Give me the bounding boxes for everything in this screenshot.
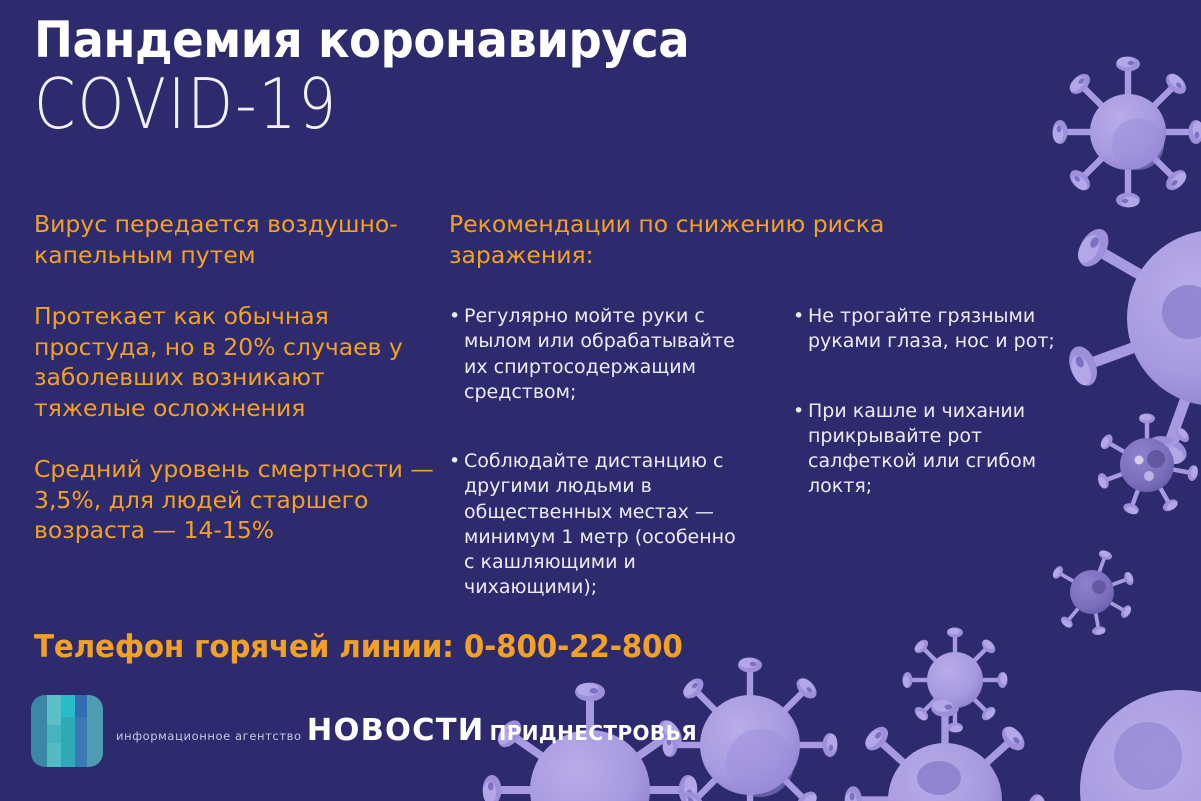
facts-column: Вирус передается воздушно-капельным путе… bbox=[34, 209, 434, 546]
logo-text-block: информационное агентство НОВОСТИ ПРИДНЕС… bbox=[116, 715, 697, 746]
recommendations-heading: Рекомендации по снижению риска заражения… bbox=[449, 209, 949, 270]
list-item-label: Соблюдайте дистанцию с другими людьми в … bbox=[464, 450, 736, 598]
logo-region: ПРИДНЕСТРОВЬЯ bbox=[490, 721, 697, 745]
bullet-icon: • bbox=[793, 304, 804, 329]
list-item: • Не трогайте грязными руками глаза, нос… bbox=[793, 304, 1061, 355]
recommendations-column-one: • Регулярно мойте руки с мылом или обраб… bbox=[449, 304, 749, 601]
poster-header: Пандемия коронавируса COVID-19 bbox=[34, 14, 739, 132]
fact-mortality: Средний уровень смертности — 3,5%, для л… bbox=[34, 454, 434, 546]
bullet-icon: • bbox=[449, 449, 460, 474]
fact-transmission: Вирус передается воздушно-капельным путе… bbox=[34, 209, 434, 270]
hotline-number: Телефон горячей линии: 0-800-22-800 bbox=[34, 629, 683, 665]
list-item-label: Не трогайте грязными руками глаза, нос и… bbox=[808, 305, 1055, 352]
recommendations-column: Рекомендации по снижению риска заражения… bbox=[449, 209, 1069, 601]
bullet-icon: • bbox=[793, 399, 804, 424]
logo-kicker: информационное агентство bbox=[116, 729, 302, 743]
recommendations-grid: • Регулярно мойте руки с мылом или обраб… bbox=[449, 304, 1069, 601]
page-subtitle: COVID-19 bbox=[34, 70, 710, 139]
list-item: • Регулярно мойте руки с мылом или обраб… bbox=[449, 304, 749, 405]
logo-name: НОВОСТИ bbox=[307, 713, 485, 748]
covid-infographic-poster: Пандемия коронавируса COVID-19 Вирус пер… bbox=[0, 0, 1201, 801]
page-title: Пандемия коронавируса bbox=[34, 14, 689, 66]
logo-mark-icon bbox=[31, 695, 103, 767]
list-item-label: При кашле и чихании прикрывайте рот салф… bbox=[808, 400, 1036, 498]
recommendations-column-two: • Не трогайте грязными руками глаза, нос… bbox=[793, 304, 1061, 601]
list-item: • При кашле и чихании прикрывайте рот са… bbox=[793, 399, 1061, 500]
agency-logo: информационное агентство НОВОСТИ ПРИДНЕС… bbox=[31, 695, 697, 767]
list-item: • Соблюдайте дистанцию с другими людьми … bbox=[449, 449, 749, 601]
list-item-label: Регулярно мойте руки с мылом или обрабат… bbox=[464, 305, 735, 403]
fact-symptoms: Протекает как обычная простуда, но в 20%… bbox=[34, 301, 434, 423]
bullet-icon: • bbox=[449, 304, 460, 329]
